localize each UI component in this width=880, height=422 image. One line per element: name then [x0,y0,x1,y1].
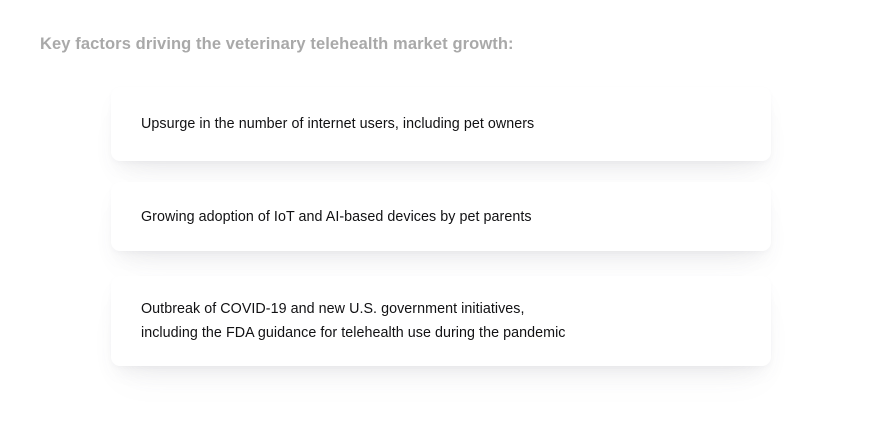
factor-card-line: Upsurge in the number of internet users,… [141,112,534,136]
factor-card-text: Upsurge in the number of internet users,… [141,112,534,136]
veterinary-telehealth-infographic: Key factors driving the veterinary teleh… [0,0,880,422]
factor-card-line: including the FDA guidance for telehealt… [141,321,566,345]
factor-card-internet-users: Upsurge in the number of internet users,… [111,87,771,161]
factor-card-text: Outbreak of COVID-19 and new U.S. govern… [141,297,566,345]
factor-card-line: Outbreak of COVID-19 and new U.S. govern… [141,297,566,321]
factor-card-line: Growing adoption of IoT and AI-based dev… [141,205,532,229]
factor-card-list: Upsurge in the number of internet users,… [111,87,771,366]
factor-card-text: Growing adoption of IoT and AI-based dev… [141,205,532,229]
page-title: Key factors driving the veterinary teleh… [40,33,514,55]
factor-card-iot-ai-devices: Growing adoption of IoT and AI-based dev… [111,182,771,251]
factor-card-covid-fda: Outbreak of COVID-19 and new U.S. govern… [111,276,771,366]
